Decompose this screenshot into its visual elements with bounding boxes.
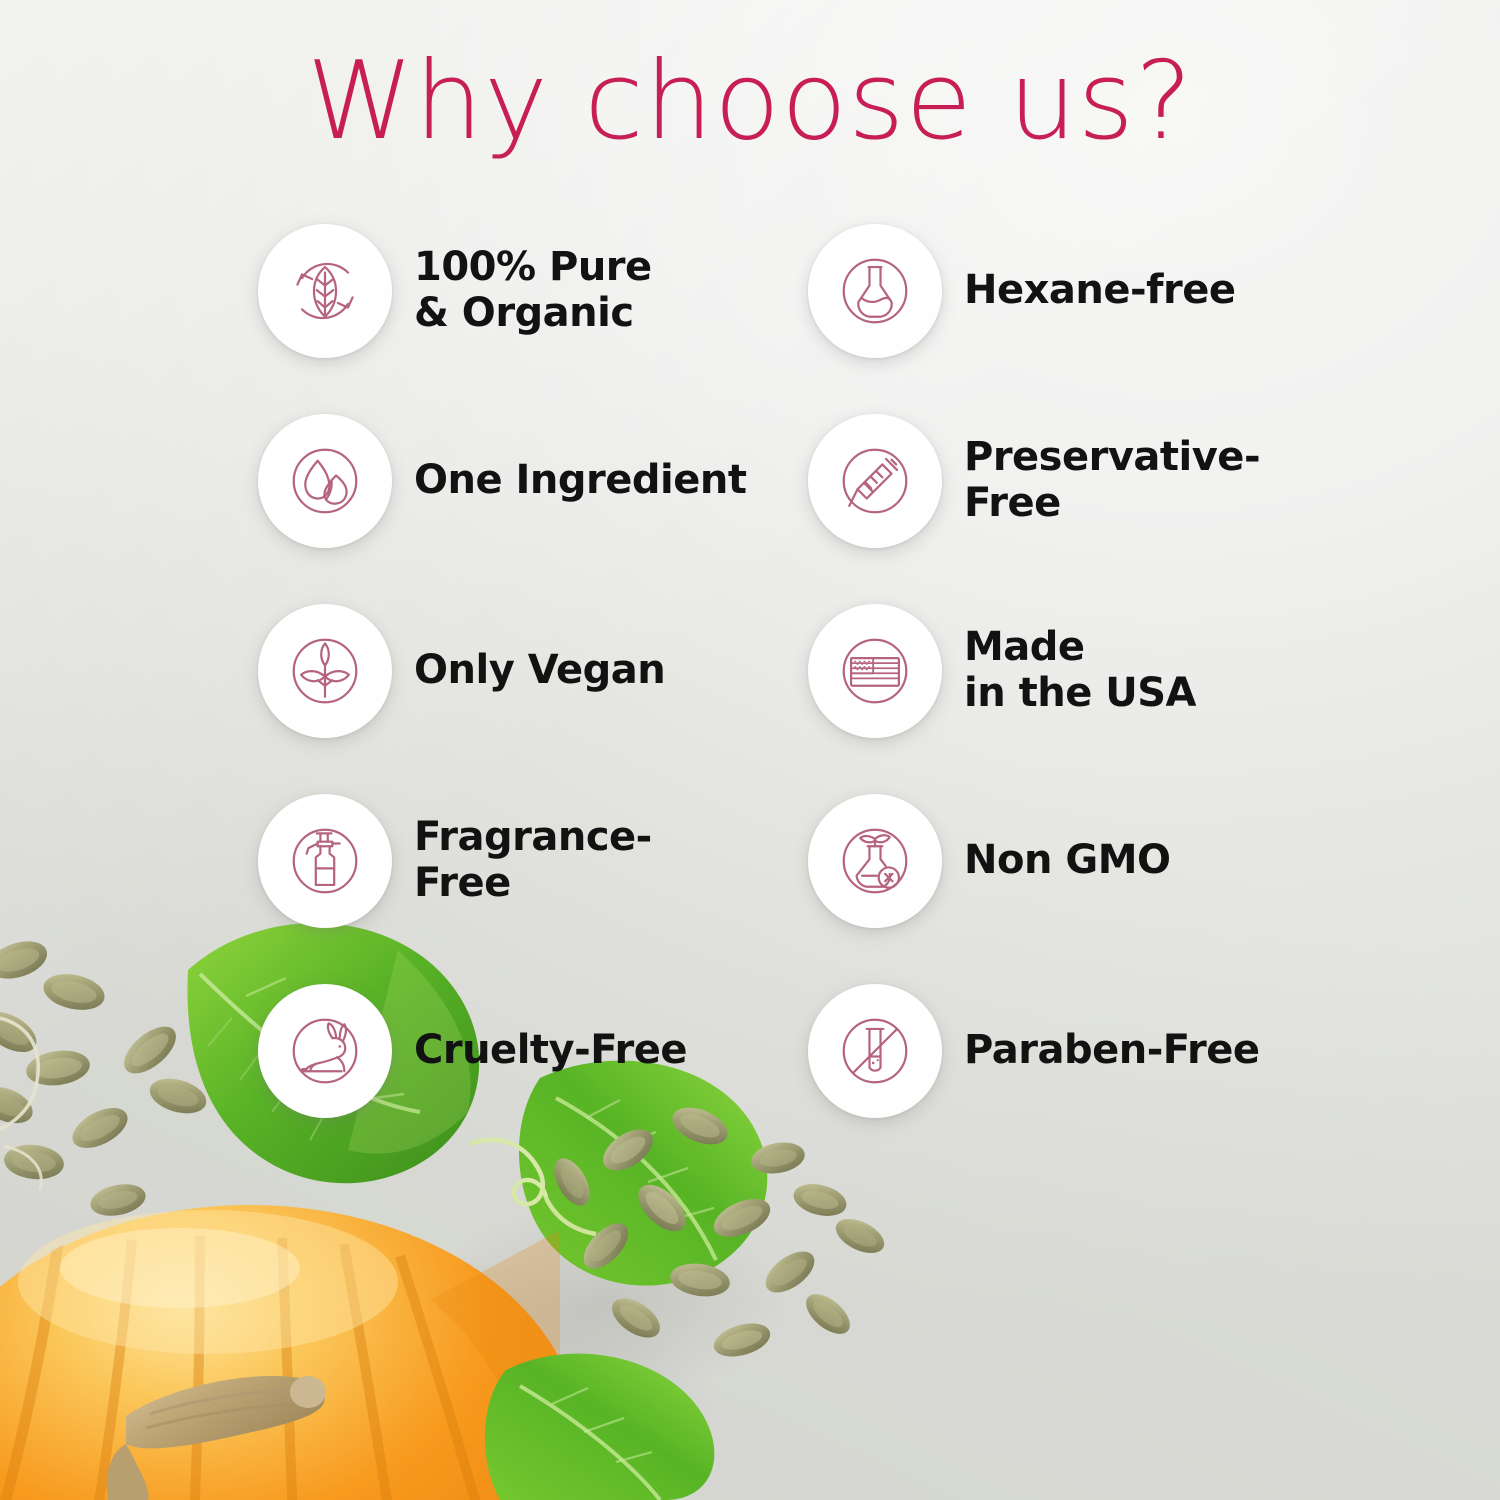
feature-label-line1: Preservative- <box>964 434 1260 480</box>
feature-label-line1: Made <box>964 624 1085 670</box>
feature-icon-badge <box>258 604 392 738</box>
feature-icon-badge <box>808 794 942 928</box>
feature-label-line1: Fragrance-Free <box>414 814 652 906</box>
feature-label: 100% Pure & Organic <box>414 245 652 336</box>
rabbit-icon <box>279 1005 371 1097</box>
feature-non-gmo[interactable]: Non GMO <box>808 766 1278 956</box>
feature-label: Non GMO <box>964 838 1171 884</box>
flask-icon <box>829 245 921 337</box>
feature-hexane-free[interactable]: Hexane-free <box>808 196 1278 386</box>
pumpkin-seeds-left <box>0 935 241 1221</box>
syringe-icon <box>829 435 921 527</box>
feature-label-line1: Cruelty-Free <box>414 1027 687 1073</box>
sprout-icon <box>279 625 371 717</box>
feature-fragrance-free[interactable]: Fragrance-Free <box>258 766 748 956</box>
feature-icon-badge <box>808 224 942 358</box>
feature-label: Preservative- Free <box>964 435 1260 526</box>
feature-label: Fragrance-Free <box>414 815 748 906</box>
leaf-recycle-icon <box>279 245 371 337</box>
green-leaf-bottom <box>485 1354 714 1500</box>
feature-icon-badge <box>258 984 392 1118</box>
feature-icon-badge <box>808 604 942 738</box>
feature-label-line1: Only Vegan <box>414 647 665 693</box>
feature-grid: 100% Pure & Organic Hexane-free <box>258 196 1348 1146</box>
feature-label: Hexane-free <box>964 268 1236 314</box>
feature-icon-badge <box>258 224 392 358</box>
feature-icon-badge <box>258 794 392 928</box>
test-tube-no-icon <box>829 1005 921 1097</box>
feature-label: Made in the USA <box>964 625 1196 716</box>
feature-made-in-usa[interactable]: Made in the USA <box>808 576 1278 766</box>
feature-label: Cruelty-Free <box>414 1028 687 1074</box>
feature-label-line2: & Organic <box>414 291 652 337</box>
feature-preservative-free[interactable]: Preservative- Free <box>808 386 1278 576</box>
feature-100-pure-organic[interactable]: 100% Pure & Organic <box>258 196 748 386</box>
feature-paraben-free[interactable]: Paraben-Free <box>808 956 1278 1146</box>
feature-cruelty-free[interactable]: Cruelty-Free <box>258 956 748 1146</box>
feature-label: Only Vegan <box>414 648 665 694</box>
infographic-poster: Why choose us? 100% Pure & Organic <box>0 0 1500 1500</box>
gmo-flask-icon <box>829 815 921 907</box>
spray-bottle-icon <box>279 815 371 907</box>
pumpkin <box>0 1205 580 1500</box>
usa-flag-icon <box>829 625 921 717</box>
pumpkin-stem <box>107 1376 326 1500</box>
feature-label-line1: 100% Pure <box>414 244 652 290</box>
feature-label: Paraben-Free <box>964 1028 1260 1074</box>
feature-label-line1: Non GMO <box>964 837 1171 883</box>
feature-label-line1: One Ingredient <box>414 457 746 503</box>
feature-label-line2: Free <box>964 481 1260 527</box>
feature-label: One Ingredient <box>414 458 746 504</box>
two-drops-icon <box>279 435 371 527</box>
feature-icon-badge <box>808 414 942 548</box>
feature-one-ingredient[interactable]: One Ingredient <box>258 386 748 576</box>
feature-label-line1: Paraben-Free <box>964 1027 1260 1073</box>
feature-icon-badge <box>258 414 392 548</box>
page-title: Why choose us? <box>0 44 1500 161</box>
feature-label-line2: in the USA <box>964 671 1196 717</box>
feature-icon-badge <box>808 984 942 1118</box>
feature-label-line1: Hexane-free <box>964 267 1236 313</box>
feature-only-vegan[interactable]: Only Vegan <box>258 576 748 766</box>
